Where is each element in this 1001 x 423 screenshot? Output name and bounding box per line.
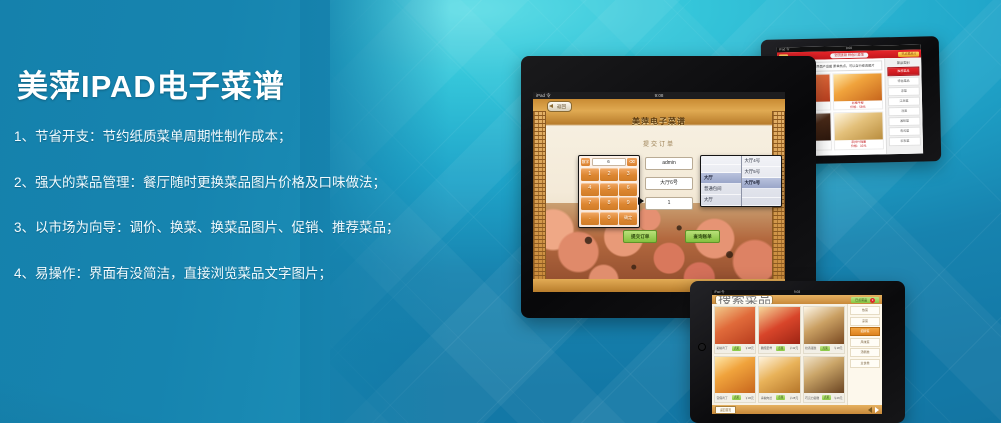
tablet-device-bottom-right: iPad 令 9:08 已点菜品 3 彩椒鸡丁 点菜 [690,281,905,423]
cart-button[interactable]: 已点菜品 0 [898,51,919,56]
sidebar-item-flavor[interactable]: 风味菜 [850,338,880,347]
pagination-controls [868,407,879,413]
dish-card[interactable]: 奶香蛋挞 点菜 ￥18元 [803,306,845,354]
dropdown-table-item[interactable]: 大厅5号 [742,167,782,178]
sidebar-item-signature[interactable]: 招牌菜 [850,327,880,336]
dish-price: ￥26元 [834,396,843,400]
dish-card-footer: 巧克力蛋糕 点菜 ￥26元 [804,393,844,402]
dish-price: 价格：32元 [834,144,883,149]
dish-card[interactable]: 巧克力蛋糕 点菜 ￥26元 [803,356,845,404]
category-sidebar: 热菜 凉菜 招牌菜 风味菜 汤粥类 主食类 [847,304,882,405]
tablet-screen-main: iPad 令 9:08 返回 美萍电子菜谱 提交订单 数字 [533,92,785,292]
feature-item-3: 3、以市场为向导：调价、换菜、换菜品图片、促销、推荐菜品； [14,221,444,235]
dish-card[interactable]: 彩椒鸡丁 点菜 ￥38元 [714,306,756,354]
dish-name: 宫保鸡丁 [717,396,728,400]
dish-photo [804,307,844,344]
hero-copy: 美萍IPAD电子菜谱 1、节省开支：节约纸质菜单周期性制作成本； 2、强大的菜品… [14,70,444,312]
promo-banner: 美萍IPAD电子菜谱 1、节省开支：节约纸质菜单周期性制作成本； 2、强大的菜品… [0,0,1001,423]
dropdown-area-item[interactable]: 大厅 [701,195,741,206]
dish-name: 巧克力蛋糕 [805,396,819,400]
cart-label: 已点菜品 [855,298,867,302]
home-button[interactable]: 返回首页 [715,406,736,414]
dropdown-area-item[interactable] [701,156,741,165]
dropdown-table-item-selected[interactable]: 大厅6号 [742,178,782,189]
keypad-key-7[interactable]: 7 [581,197,599,210]
category-sidebar: 菜品类别 推荐菜品 特色菜品 凉菜 江浙菜 汤类 湘味菜 粤式菜 农家菜 [884,58,923,155]
add-dish-button[interactable]: 点菜 [822,395,831,400]
sidebar-item-cantonese[interactable]: 粤式菜 [889,127,921,136]
dish-name: 彩椒鸡丁 [717,346,728,350]
restaurant-name-pill: 全国连锁 特色川菜馆 [830,52,868,58]
app-header-bar: 已点菜品 3 [712,295,882,304]
cart-button[interactable]: 已点菜品 3 [851,297,879,303]
dish-photo [834,113,883,141]
dish-name: 糖醋里脊 [761,346,772,350]
dish-price: ￥38元 [745,346,754,350]
dish-price: ￥42元 [789,346,798,350]
dish-photo [804,357,844,394]
feature-list: 1、节省开支：节约纸质菜单周期性制作成本； 2、强大的菜品管理：餐厅随时更换菜品… [14,130,444,280]
tablet-screen-bottom-right: iPad 令 9:08 已点菜品 3 彩椒鸡丁 点菜 [712,290,882,414]
dish-card-footer: 青椒肉丝 点菜 ￥28元 [759,393,799,402]
keypad-key-8[interactable]: 8 [600,197,618,210]
dish-photo [715,307,755,344]
action-buttons: 提交订单 查询账单 [623,230,773,243]
app-subtitle: 提交订单 [533,139,785,148]
status-bar: iPad 令 9:08 [533,92,785,99]
keypad-display-row: 数字 6 ⌫ [581,158,637,166]
add-dish-button[interactable]: 点菜 [732,395,741,400]
dropdown-table-item[interactable] [742,189,782,198]
app-body: 彩椒鸡丁 点菜 ￥38元 糖醋里脊 点菜 ￥42元 [712,304,882,405]
dropdown-area-item[interactable] [701,165,741,174]
page-title: 美萍IPAD电子菜谱 [17,70,444,104]
order-app: 返回 美萍电子菜谱 提交订单 数字 6 ⌫ 1 2 3 [533,99,785,292]
back-button[interactable]: 返回 [547,101,572,112]
backspace-icon[interactable]: ⌫ [627,158,637,166]
sidebar-item-hunan[interactable]: 湘味菜 [888,117,920,126]
dish-photo [833,73,882,101]
keypad-key-dot[interactable]: . [581,212,599,225]
dish-card-footer: 奶香蛋挞 点菜 ￥18元 [804,344,844,353]
dish-photo [759,307,799,344]
keypad-grid: 1 2 3 4 5 6 7 8 9 . 0 确定 [581,168,637,225]
pointer-arrow-icon [638,197,644,205]
sidebar-item-soup[interactable]: 汤类 [888,107,920,116]
feature-item-2: 2、强大的菜品管理：餐厅随时更换菜品图片价格及口味做法； [14,176,444,190]
dropdown-area-item-selected[interactable]: 大厅 [701,173,741,184]
numeric-keypad[interactable]: 数字 6 ⌫ 1 2 3 4 5 6 7 8 9 . [578,155,640,228]
keypad-key-4[interactable]: 4 [581,183,599,196]
dish-card-footer: 彩椒鸡丁 点菜 ￥38元 [715,344,755,353]
dish-card[interactable]: 青椒肉丝 点菜 ￥28元 [758,356,800,404]
prev-page-icon[interactable] [868,407,872,413]
cart-count-badge: 3 [870,298,875,303]
dish-card-footer: 宫保鸡丁 点菜 ￥36元 [715,393,755,402]
dish-photo [715,357,755,394]
search-input[interactable] [715,295,773,305]
dish-price: ￥18元 [834,346,843,350]
keypad-key-3[interactable]: 3 [619,168,637,181]
dropdown-table-item[interactable]: 大厅4号 [742,156,782,167]
dish-card[interactable]: 凉拌什锦面 价格：32元 [833,111,884,149]
ornament-border-left [533,111,546,279]
sidebar-title: 菜品类别 [887,60,919,66]
query-bill-button[interactable]: 查询账单 [685,230,719,243]
sidebar-item-hot[interactable]: 热菜 [850,306,880,315]
add-dish-button[interactable]: 点菜 [776,395,785,400]
sidebar-item-recommended[interactable]: 推荐菜品 [887,67,919,76]
dish-name: 青椒肉丝 [761,396,772,400]
add-dish-button[interactable]: 点菜 [776,346,785,351]
dish-card[interactable]: 彩椒牛柳 价格：58元 [832,72,883,110]
dropdown-area-column: 大厅 普通包间 大厅 [701,156,742,206]
sidebar-item-jiangzhe[interactable]: 江浙菜 [888,97,920,106]
sidebar-item-cold[interactable]: 凉菜 [850,317,880,326]
tablet-device-main: iPad 令 9:08 返回 美萍电子菜谱 提交订单 数字 [521,56,816,318]
dish-card-footer: 糖醋里脊 点菜 ￥42元 [759,344,799,353]
table-field[interactable]: 大厅6号 [645,177,693,190]
keypad-display: 6 [592,158,626,166]
dish-grid: 彩椒鸡丁 点菜 ￥38元 糖醋里脊 点菜 ￥42元 [712,304,847,405]
sidebar-item-cold[interactable]: 凉菜 [888,87,920,96]
keypad-key-9[interactable]: 9 [619,197,637,210]
dropdown-area-item[interactable]: 普通包间 [701,184,741,195]
dropdown-table-item[interactable] [742,198,782,207]
status-clock: 9:08 [533,92,785,99]
sidebar-item-soup[interactable]: 汤粥类 [850,348,880,357]
feature-item-1: 1、节省开支：节约纸质菜单周期性制作成本； [14,130,444,144]
user-field[interactable]: admin [645,157,693,170]
dish-photo [759,357,799,394]
sidebar-item-staple[interactable]: 主食类 [850,359,880,368]
sidebar-item-specialty[interactable]: 特色菜品 [888,77,920,86]
people-field[interactable]: 1 [645,197,693,210]
dish-price: ￥28元 [789,396,798,400]
keypad-mode-label: 数字 [581,158,590,166]
feature-item-4: 4、易操作：界面有没简洁，直接浏览菜品文字图片； [14,267,444,281]
keypad-key-0[interactable]: 0 [600,212,618,225]
keypad-key-2[interactable]: 2 [600,168,618,181]
home-button-icon[interactable] [698,343,706,351]
keypad-key-1[interactable]: 1 [581,168,599,181]
keypad-key-5[interactable]: 5 [600,183,618,196]
add-dish-button[interactable]: 点菜 [732,346,741,351]
app-title: 美萍电子菜谱 [533,116,785,127]
dish-card[interactable]: 糖醋里脊 点菜 ￥42元 [758,306,800,354]
keypad-key-6[interactable]: 6 [619,183,637,196]
order-fields: admin 大厅6号 1 [645,157,693,217]
keypad-key-confirm[interactable]: 确定 [619,212,637,225]
table-select-dropdown[interactable]: 大厅 普通包间 大厅 大厅4号 大厅5号 大厅6号 [700,155,782,207]
next-page-icon[interactable] [875,407,879,413]
dish-price: 价格：58元 [834,104,883,109]
app-title-text: 美萍电子菜谱 [632,117,686,126]
dropdown-table-column: 大厅4号 大厅5号 大厅6号 [742,156,782,206]
dish-name: 奶香蛋挞 [805,346,816,350]
submit-order-button[interactable]: 提交订单 [623,230,657,243]
dish-price: ￥36元 [745,396,754,400]
dish-card[interactable]: 宫保鸡丁 点菜 ￥36元 [714,356,756,404]
add-dish-button[interactable]: 点菜 [820,346,829,351]
app-bottom-bar: 返回首页 [712,405,882,414]
sidebar-item-farmhouse[interactable]: 农家菜 [889,137,921,146]
